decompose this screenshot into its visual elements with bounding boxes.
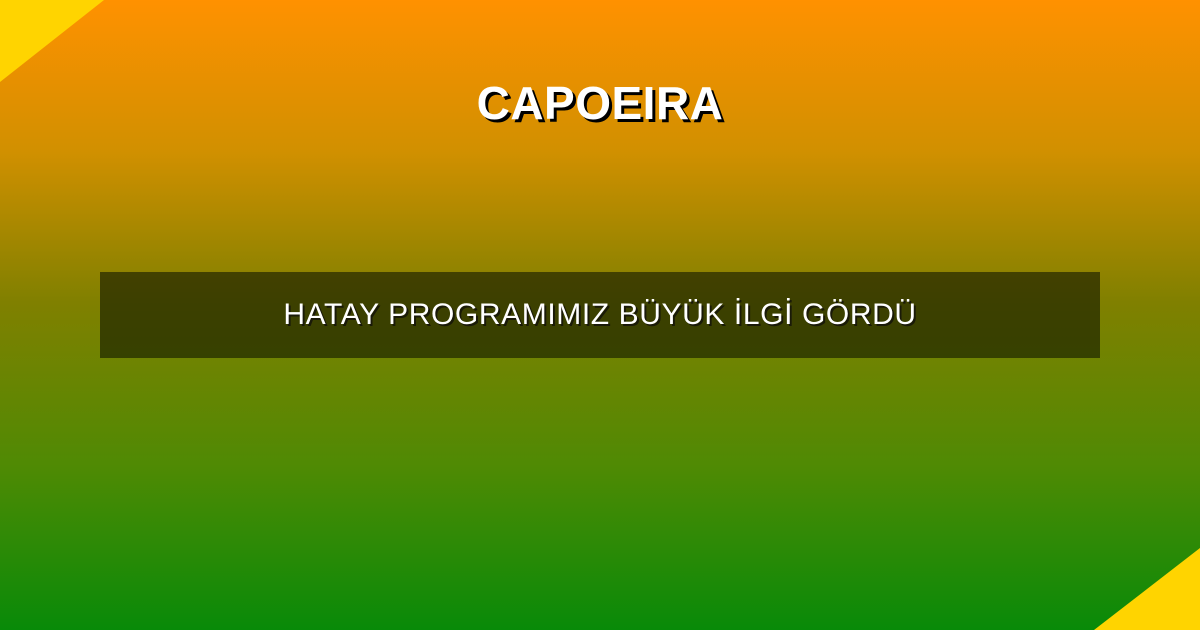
promo-banner: CAPOEIRA HATAY PROGRAMIMIZ BÜYÜK İLGİ GÖ… — [0, 0, 1200, 630]
banner-title: CAPOEIRA — [0, 78, 1200, 129]
subtitle-plate: HATAY PROGRAMIMIZ BÜYÜK İLGİ GÖRDÜ — [100, 272, 1100, 358]
banner-subtitle: HATAY PROGRAMIMIZ BÜYÜK İLGİ GÖRDÜ — [283, 298, 916, 332]
corner-triangle-top-left-icon — [0, 0, 104, 82]
corner-triangle-bottom-right-icon — [1094, 548, 1200, 630]
